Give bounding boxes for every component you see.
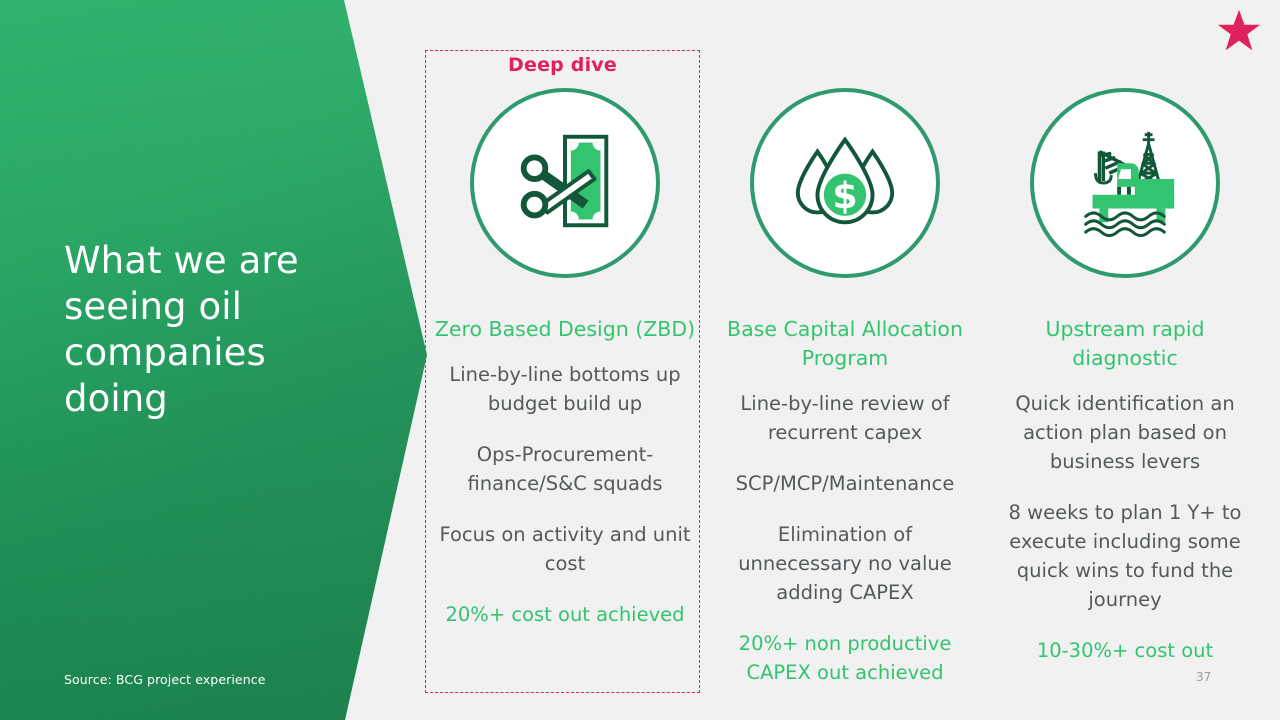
page-number: 37 (1196, 670, 1211, 684)
column-bullet: 8 weeks to plan 1 Y+ to execute includin… (993, 498, 1257, 614)
column-bullet: SCP/MCP/Maintenance (713, 469, 977, 498)
icon-circle-upstream-rapid-diagnostic (1030, 88, 1220, 278)
column-highlight: 20%+ non productive CAPEX out achieved (713, 629, 977, 687)
icon-circle-zero-based-design (470, 88, 660, 278)
column-body: Line-by-line review of recurrent capex S… (713, 389, 977, 629)
icon-circle-base-capital-allocation-program: $ (750, 88, 940, 278)
column-highlight: 20%+ cost out achieved (445, 600, 684, 629)
offshore-oil-platform-icon (1066, 122, 1184, 244)
deep-dive-label: Deep dive (425, 54, 700, 76)
content-columns: Zero Based Design (ZBD) Line-by-line bot… (425, 88, 1265, 687)
oil-droplets-dollar-icon: $ (786, 122, 904, 244)
column-upstream-rapid-diagnostic: Upstream rapid diagnostic Quick identifi… (985, 88, 1265, 687)
column-bullet: Line-by-line bottoms up budget build up (433, 360, 697, 418)
column-base-capital-allocation-program: $ Base Capital Allocation Program Line-b… (705, 88, 985, 687)
column-heading: Upstream rapid diagnostic (993, 315, 1257, 373)
slide-root: What we are seeing oil companies doing S… (0, 0, 1280, 720)
column-highlight: 10-30%+ cost out (1037, 636, 1213, 665)
column-bullet: Ops-Procurement-finance/S&C squads (433, 440, 697, 498)
scissors-cutting-banknote-icon (506, 122, 624, 244)
column-heading: Base Capital Allocation Program (713, 315, 977, 373)
column-bullet: Line-by-line review of recurrent capex (713, 389, 977, 447)
source-note: Source: BCG project experience (64, 672, 266, 687)
column-zero-based-design: Zero Based Design (ZBD) Line-by-line bot… (425, 88, 705, 687)
bcg-star-logo (1216, 8, 1262, 54)
column-body: Line-by-line bottoms up budget build up … (433, 360, 697, 600)
column-heading: Zero Based Design (ZBD) (435, 315, 695, 344)
column-bullet: Quick identification an action plan base… (993, 389, 1257, 476)
column-body: Quick identification an action plan base… (993, 389, 1257, 636)
svg-text:$: $ (832, 175, 857, 218)
column-bullet: Elimination of unnecessary no value addi… (713, 520, 977, 607)
page-title: What we are seeing oil companies doing (64, 238, 334, 422)
column-bullet: Focus on activity and unit cost (433, 520, 697, 578)
